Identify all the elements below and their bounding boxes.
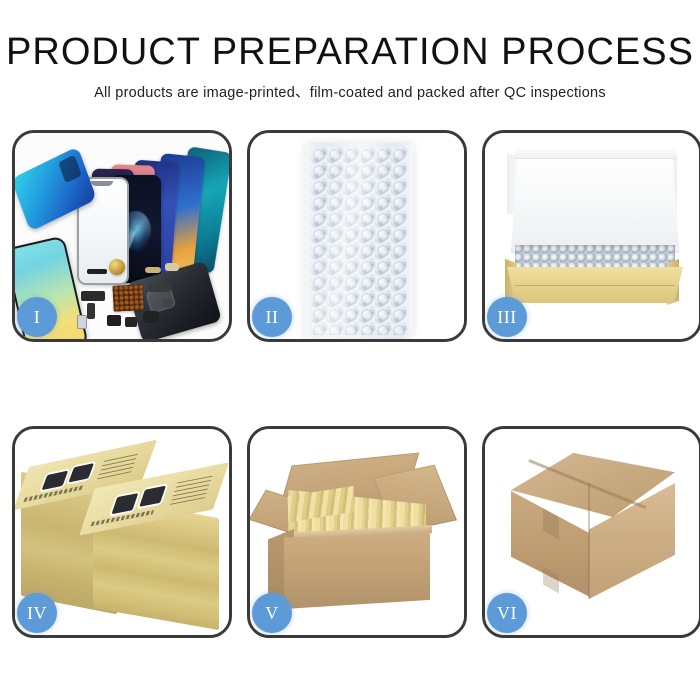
front-lid-text-block-icon xyxy=(170,475,213,504)
part-module-icon xyxy=(81,291,105,301)
steps-grid: I II xyxy=(12,130,688,638)
step-panel-3: III xyxy=(482,130,700,342)
back-lid-screen-label-1-icon xyxy=(42,471,68,490)
front-lid-screen-label-2-icon xyxy=(139,486,166,507)
step-badge-4: IV xyxy=(17,593,57,633)
page-title: PRODUCT PREPARATION PROCESS xyxy=(0,0,700,72)
part-strip-icon xyxy=(87,303,95,319)
part-sim-tray-icon xyxy=(77,315,87,329)
step-badge-3: III xyxy=(487,297,527,337)
step-panel-2: II xyxy=(247,130,467,342)
bubble-outline-icon xyxy=(311,147,407,335)
part-connector-icon xyxy=(145,267,161,273)
part-speaker-box-icon xyxy=(143,311,159,323)
step-panel-6: VI xyxy=(482,426,700,638)
page-subtitle: All products are image-printed、film-coat… xyxy=(0,72,700,102)
product-preparation-infographic: PRODUCT PREPARATION PROCESS All products… xyxy=(0,0,700,700)
step-badge-1: I xyxy=(17,297,57,337)
speaker-part-icon xyxy=(109,259,125,275)
back-lid-text-block-icon xyxy=(97,452,138,479)
chip-grid-icon xyxy=(112,284,143,312)
part-ribbon-icon xyxy=(149,285,171,292)
part-bracket-icon xyxy=(165,263,179,271)
part-camera-icon xyxy=(107,315,121,326)
front-lid-screen-label-1-icon xyxy=(111,493,138,514)
part-screw-icon xyxy=(163,299,173,307)
part-flex-cable-icon xyxy=(87,269,107,274)
step-panel-4: IV xyxy=(12,426,232,638)
mailer-lid-icon xyxy=(511,149,679,253)
step-panel-1: I xyxy=(12,130,232,342)
bubble-wrap-sleeve-icon xyxy=(305,143,413,339)
part-vibrator-icon xyxy=(125,317,137,327)
carton-body-icon xyxy=(284,533,430,609)
back-lid-screen-label-2-icon xyxy=(68,463,94,482)
mailer-front-seam-icon xyxy=(515,285,675,286)
sealed-carton-front-edge-icon xyxy=(588,483,590,599)
step-badge-2: II xyxy=(252,297,292,337)
mailer-lid-fold-icon xyxy=(515,149,675,159)
step-panel-5: V xyxy=(247,426,467,638)
step-badge-5: V xyxy=(252,593,292,633)
header: PRODUCT PREPARATION PROCESS All products… xyxy=(0,0,700,102)
step-badge-6: VI xyxy=(487,593,527,633)
